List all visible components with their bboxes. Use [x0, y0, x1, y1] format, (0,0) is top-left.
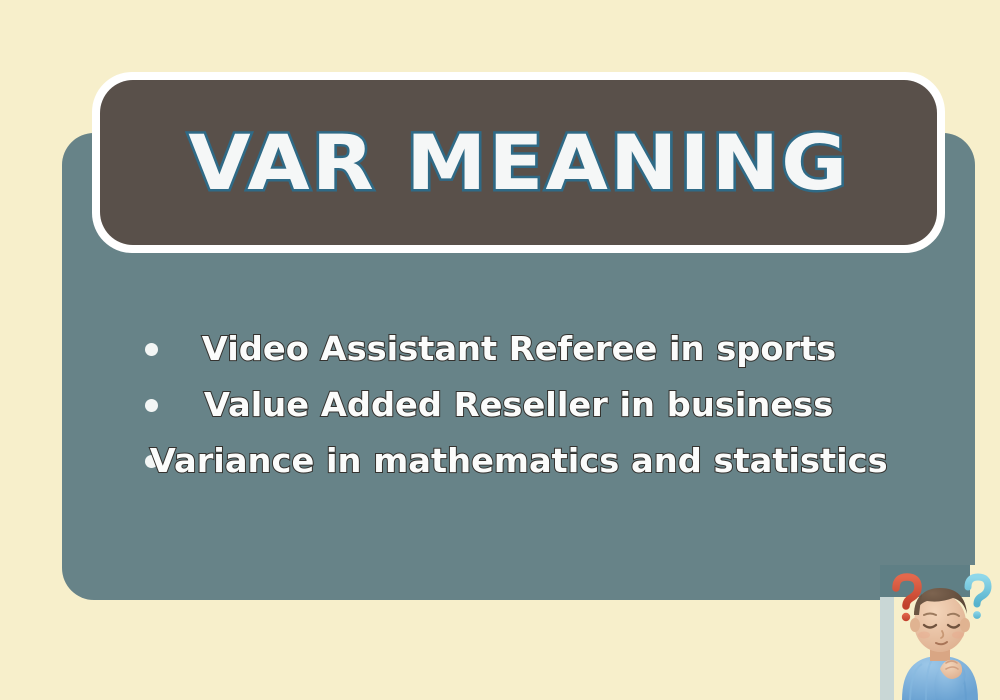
title-banner-inner: VAR Meaning	[100, 80, 937, 245]
title-banner: VAR Meaning	[92, 72, 945, 253]
list-item: Video Assistant Referee in sports	[62, 330, 975, 369]
list-item-label: Variance in mathematics and statistics	[150, 442, 888, 481]
page-title: VAR Meaning	[188, 125, 849, 201]
bullet-dot-icon	[145, 399, 158, 412]
thinking-person-illustration	[880, 565, 1000, 700]
meaning-list: Video Assistant Referee in sports Value …	[62, 330, 975, 481]
list-item-label: Video Assistant Referee in sports	[201, 330, 835, 369]
list-item-label: Value Added Reseller in business	[204, 386, 833, 425]
bullet-dot-icon	[145, 343, 158, 356]
list-item: Value Added Reseller in business	[62, 386, 975, 425]
list-item: Variance in mathematics and statistics	[62, 442, 975, 481]
